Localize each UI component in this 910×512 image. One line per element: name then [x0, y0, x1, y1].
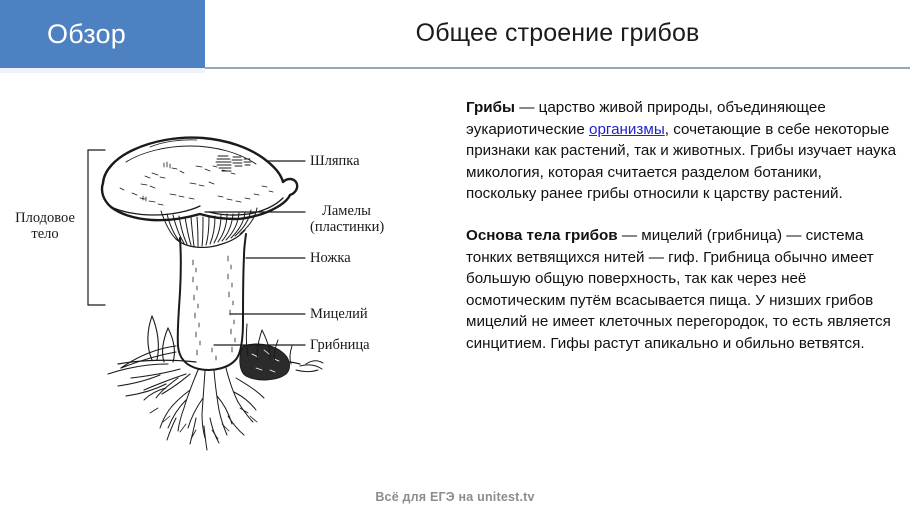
diagram-label-mycelium-mass: Грибница [310, 337, 370, 353]
organisms-link[interactable]: организмы [589, 121, 665, 138]
diagram-label-fruiting-body-line1: Плодовое [6, 210, 84, 226]
paragraph-2-body: — мицелий (грибница) — система тонких ве… [466, 227, 891, 352]
diagram-label-gills-line1: Ламелы [310, 203, 384, 219]
diagram-label-fruiting-body: Плодовое тело [6, 210, 84, 242]
page-title: Общее строение грибов [416, 19, 700, 48]
diagram-label-fruiting-body-line2: тело [6, 226, 84, 242]
diagram-label-gills: Ламелы (пластинки) [310, 203, 384, 235]
slide-footer: Всё для ЕГЭ на unitest.tv [0, 488, 910, 506]
diagram-label-stem: Ножка [310, 250, 351, 266]
mushroom-illustration [0, 78, 450, 478]
slide-root: Обзор Общее строение грибов [0, 0, 910, 512]
section-tab-label: Обзор [47, 21, 126, 48]
paragraph-fungi-definition: Грибы — царство живой природы, объединяю… [466, 97, 896, 205]
diagram-label-cap: Шляпка [310, 153, 360, 169]
paragraph-2-lead-term: Основа тела грибов [466, 227, 618, 244]
header-divider [205, 67, 910, 69]
diagram-label-mycelium: Мицелий [310, 306, 368, 322]
content-column: Грибы — царство живой природы, объединяю… [466, 97, 896, 355]
slide-header: Обзор Общее строение грибов [0, 0, 910, 70]
section-tab[interactable]: Обзор [0, 0, 205, 68]
mushroom-diagram: Плодовое тело Шляпка Ламелы (пластинки) … [0, 78, 450, 478]
page-title-container: Общее строение грибов [205, 0, 910, 68]
paragraph-1-lead-term: Грибы [466, 99, 515, 116]
paragraph-mycelium-basis: Основа тела грибов — мицелий (грибница) … [466, 225, 896, 355]
footer-branding: Всё для ЕГЭ на unitest.tv [375, 490, 534, 504]
tab-underglow [0, 68, 205, 73]
diagram-label-gills-line2: (пластинки) [310, 219, 384, 235]
